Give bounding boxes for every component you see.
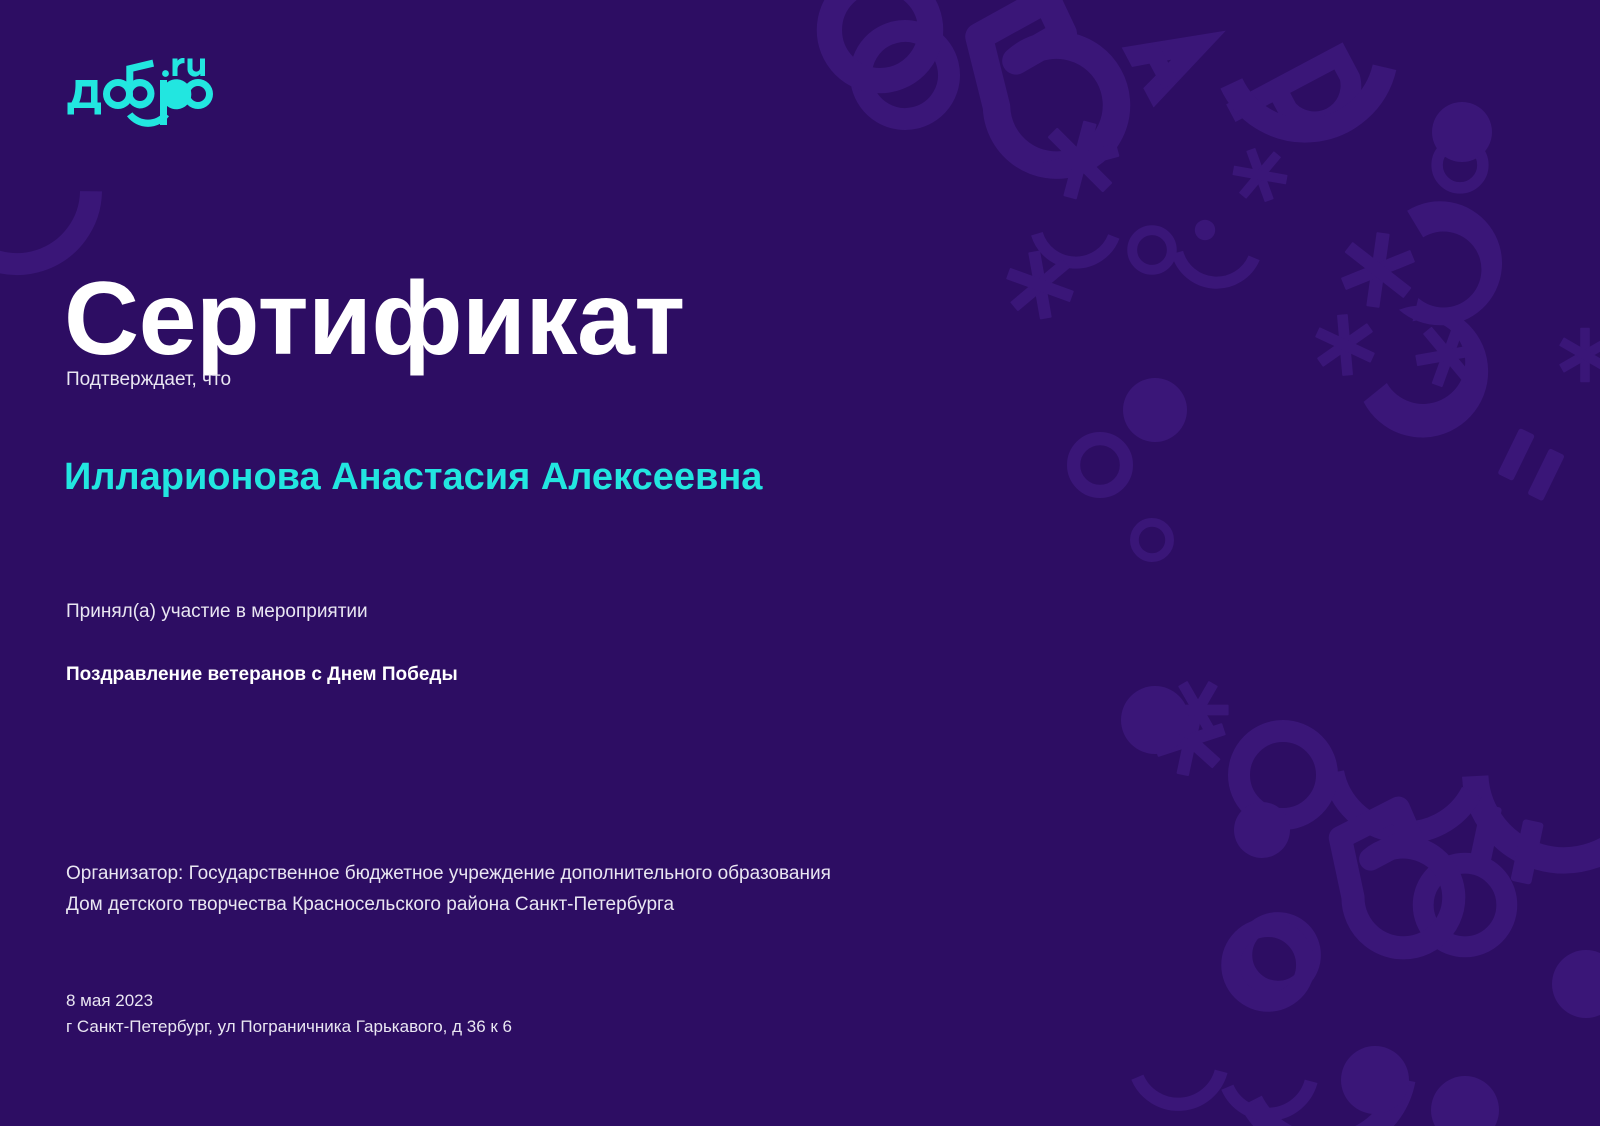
event-name: Поздравление ветеранов с Днем Победы <box>66 662 886 689</box>
footer-meta: 8 мая 2023 г Санкт-Петербург, ул Пограни… <box>66 988 966 1041</box>
certificate-content: Сертификат Подтверждает, что Илларионова… <box>0 0 1600 1126</box>
issue-date: 8 мая 2023 <box>66 988 966 1014</box>
participation-label: Принял(а) участие в мероприятии <box>66 601 368 623</box>
recipient-name: Илларионова Анастасия Алексеевна <box>64 452 764 503</box>
certificate-page: Сертификат Подтверждает, что Илларионова… <box>0 0 1600 1126</box>
page-title: Сертификат <box>64 266 685 372</box>
dobro-ru-logo[interactable] <box>64 58 214 136</box>
confirm-label: Подтверждает, что <box>66 369 231 391</box>
dobro-ru-logo-icon <box>64 58 214 136</box>
issue-address: г Санкт-Петербург, ул Пограничника Гарьк… <box>66 1014 966 1040</box>
organizer-text: Организатор: Государственное бюджетное у… <box>66 859 838 921</box>
